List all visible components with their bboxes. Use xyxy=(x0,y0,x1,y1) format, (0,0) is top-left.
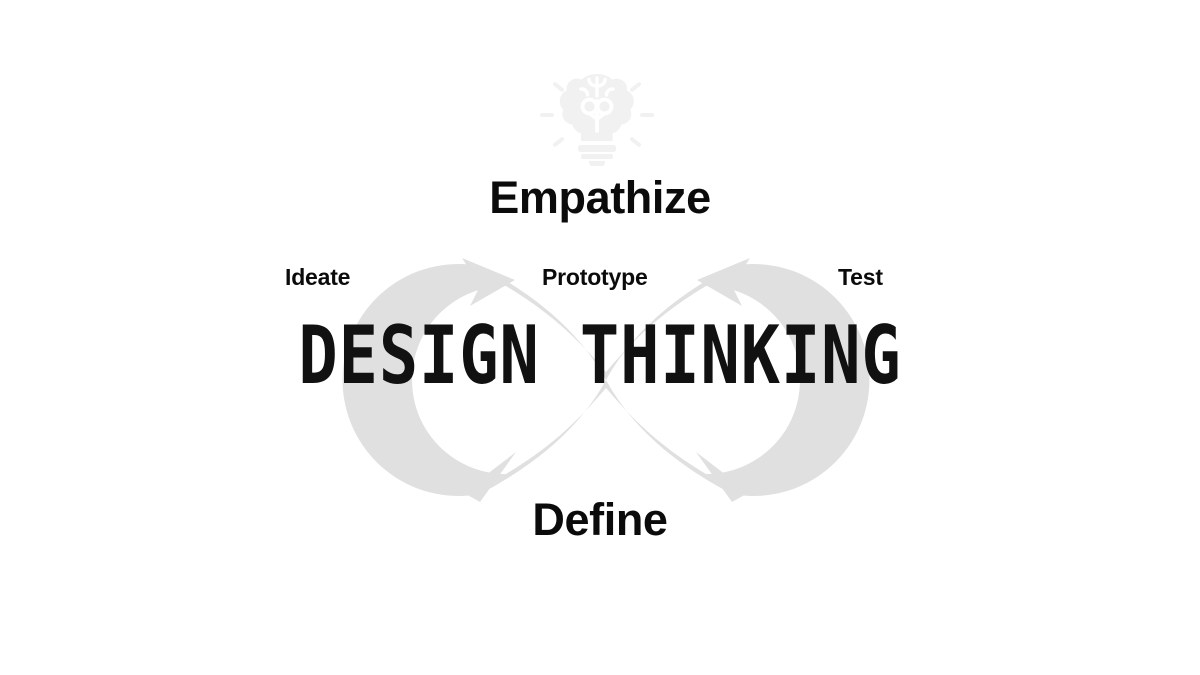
stage-label-prototype: Prototype xyxy=(542,264,648,291)
stage-label-empathize: Empathize xyxy=(0,172,1200,224)
slide-canvas: DESIGN THINKING Empathize Ideate Prototy… xyxy=(0,0,1200,675)
brain-lightbulb-icon xyxy=(536,66,658,166)
stage-label-ideate: Ideate xyxy=(285,264,350,291)
stage-label-define: Define xyxy=(0,494,1200,546)
center-wordmark: DESIGN THINKING xyxy=(84,308,1116,403)
stage-label-test: Test xyxy=(838,264,883,291)
